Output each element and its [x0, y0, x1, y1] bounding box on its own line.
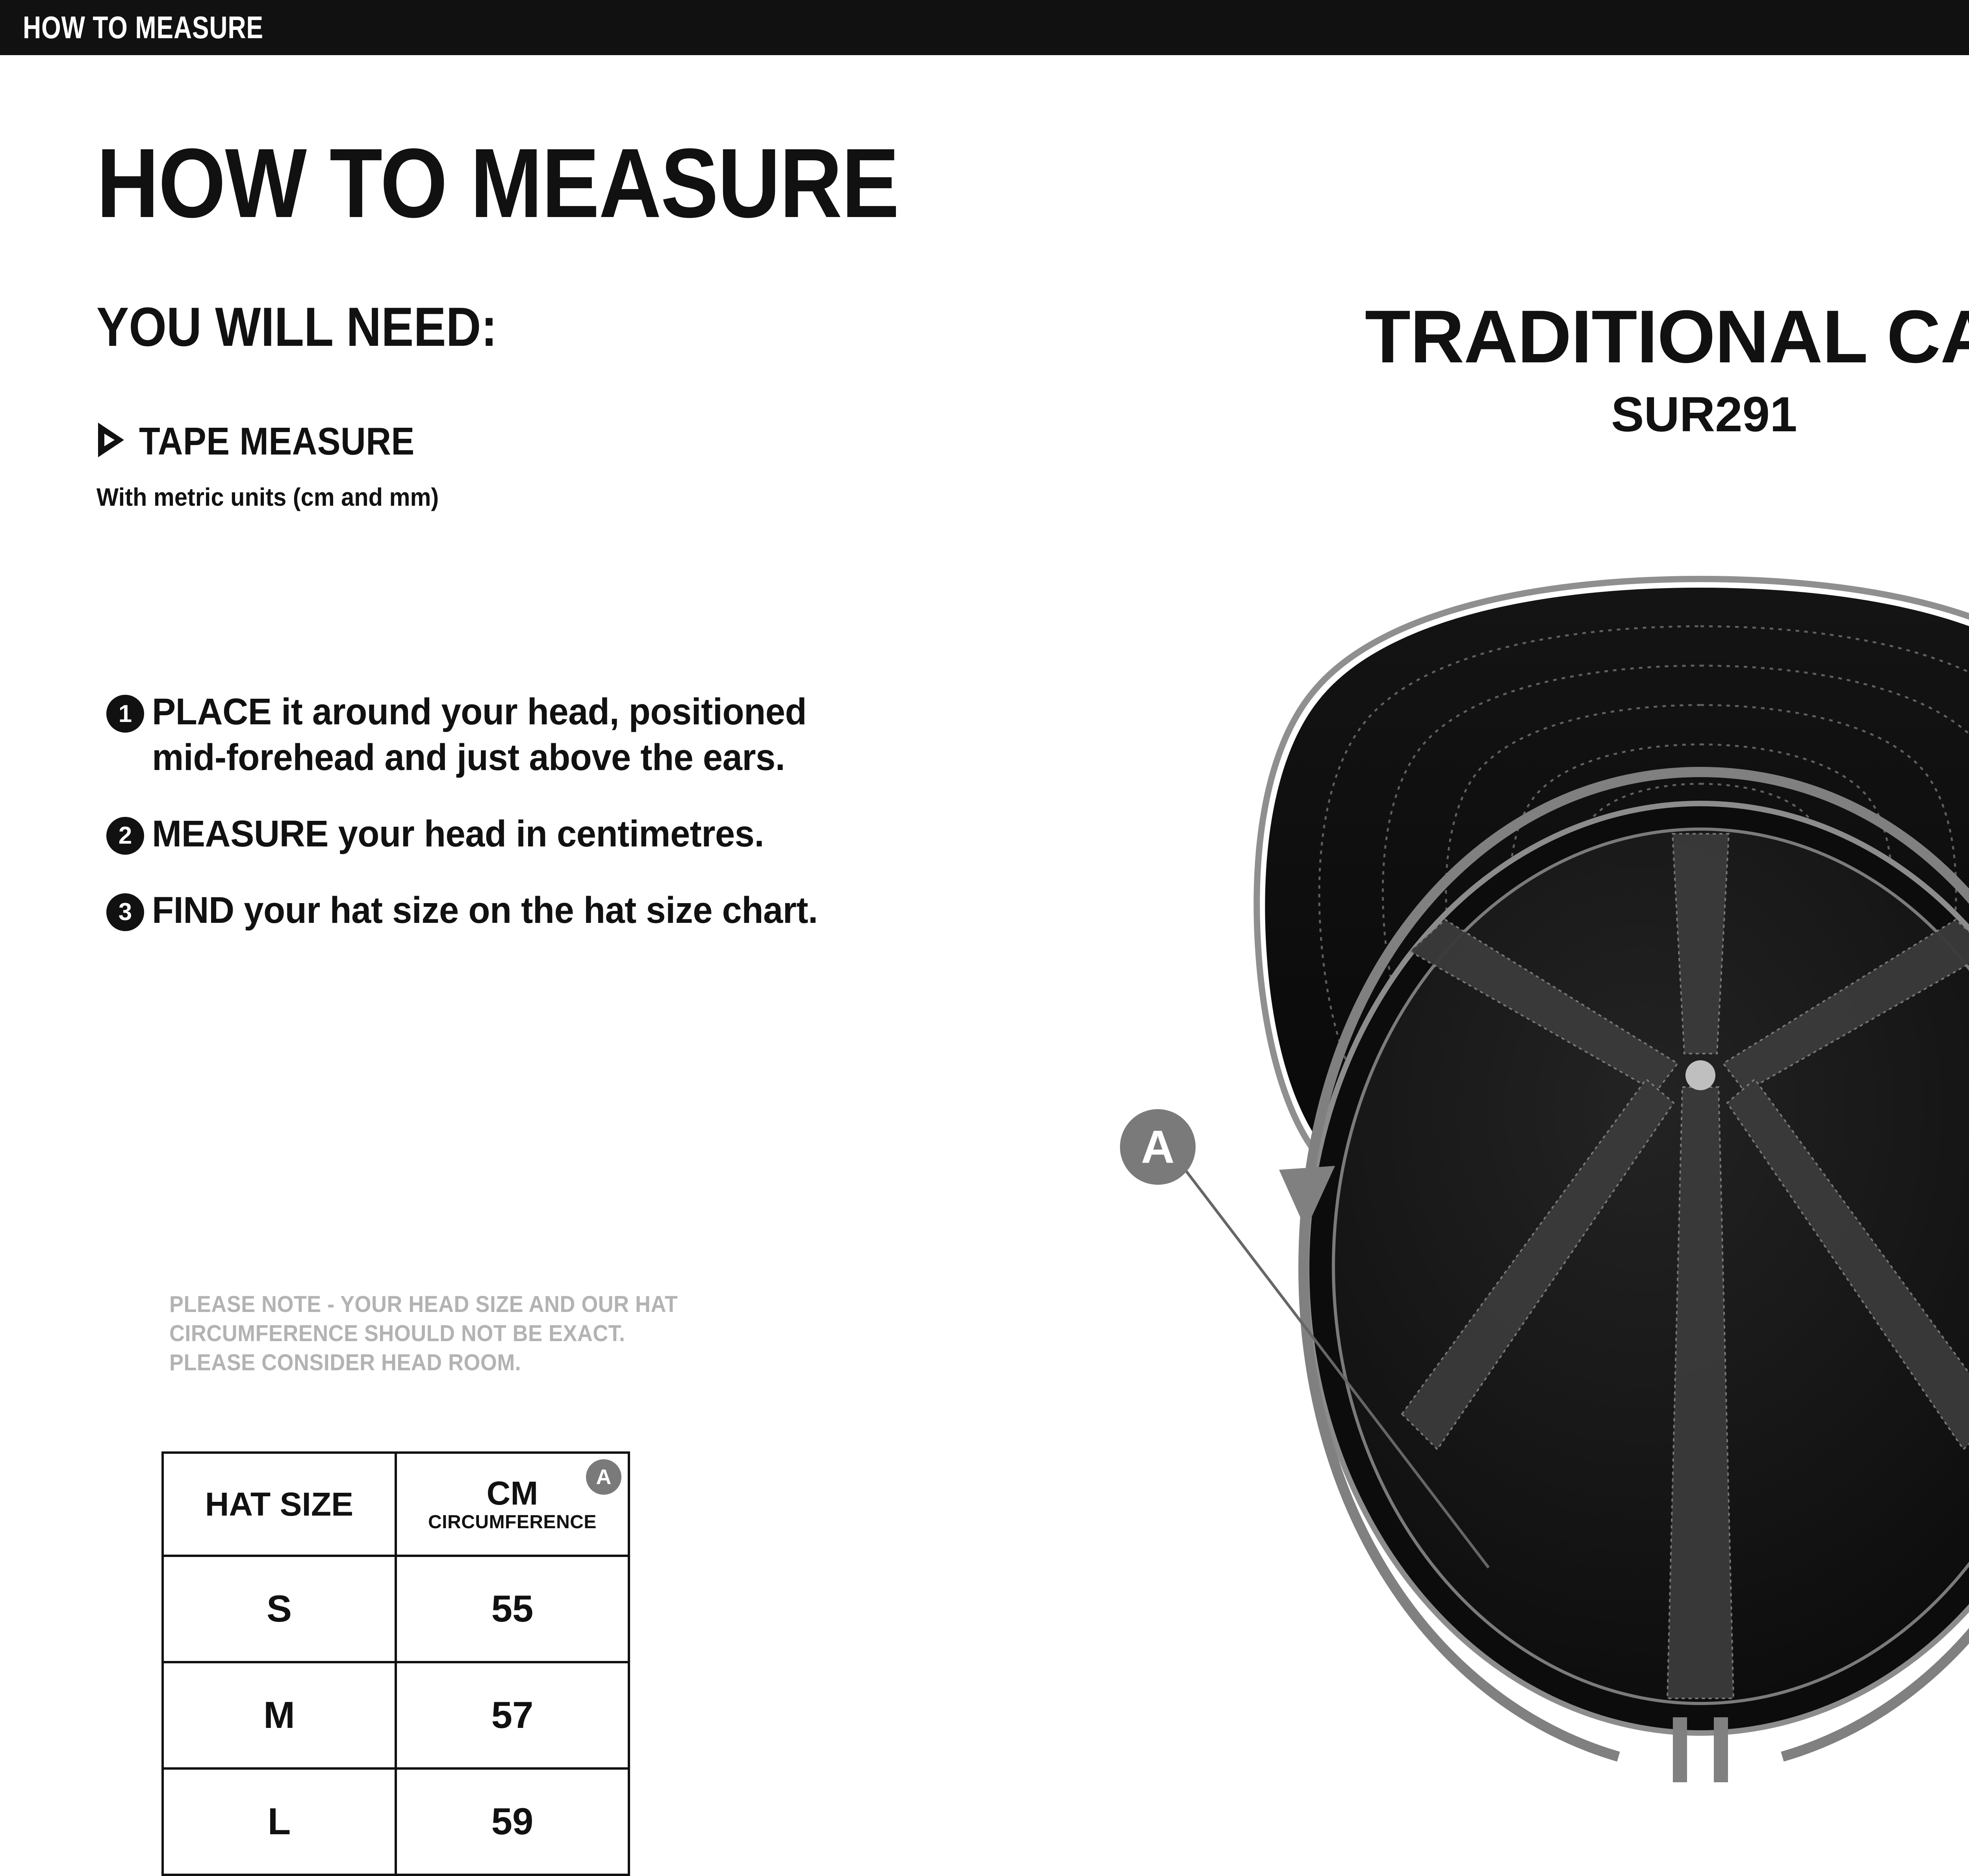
traditional-cap-underside-diagram: A: [1083, 496, 1969, 1835]
step-text: MEASURE your head in centimetres.: [152, 811, 764, 857]
measurement-a-badge: A: [586, 1459, 621, 1495]
table-row: L 59: [163, 1768, 629, 1875]
left-content-column: HOW TO MEASURE YOU WILL NEED: TAPE MEASU…: [0, 55, 1083, 1835]
table-row: S 55: [163, 1556, 629, 1662]
page-title: HOW TO MEASURE: [96, 134, 899, 232]
hat-size-chart-table: HAT SIZE CM CIRCUMFERENCE A S 55 M 57 L …: [161, 1451, 630, 1876]
list-item: 2 MEASURE your head in centimetres.: [106, 811, 933, 857]
step-number-badge: 2: [106, 817, 144, 855]
cell-hat-size: L: [164, 1803, 395, 1841]
list-item: 3 FIND your hat size on the hat size cha…: [106, 888, 933, 933]
step-number-badge: 1: [106, 695, 144, 733]
table-header-row: HAT SIZE CM CIRCUMFERENCE A: [163, 1453, 629, 1556]
cell-hat-size: M: [164, 1696, 395, 1734]
cell-cm-circumference: 59: [397, 1803, 628, 1841]
column-header-cm-circumference: CM CIRCUMFERENCE A: [396, 1453, 629, 1556]
column-header-hat-size: HAT SIZE: [163, 1453, 396, 1556]
cell-hat-size: S: [164, 1590, 395, 1628]
column-header-hat-size-label: HAT SIZE: [164, 1488, 395, 1521]
cell-cm-circumference: 55: [397, 1590, 628, 1628]
tape-measure-sublabel: With metric units (cm and mm): [96, 484, 439, 510]
tool-requirement-row: TAPE MEASURE: [96, 421, 445, 460]
tape-measure-label: TAPE MEASURE: [139, 422, 415, 460]
header-title: HOW TO MEASURE: [23, 12, 263, 43]
step-text: FIND your hat size on the hat size chart…: [152, 888, 818, 933]
cap-centre-button: [1685, 1060, 1715, 1090]
step-text: PLACE it around your head, positioned mi…: [152, 689, 818, 781]
product-title: TRADITIONAL CAP: [1083, 299, 1969, 374]
right-content-column: TRADITIONAL CAP SUR291: [1083, 55, 1969, 1835]
table-row: M 57: [163, 1662, 629, 1768]
step-number-badge: 3: [106, 893, 144, 931]
please-note-text: PLEASE NOTE - YOUR HEAD SIZE AND OUR HAT…: [169, 1290, 678, 1378]
product-code: SUR291: [1083, 390, 1969, 439]
column-header-circumference-label: CIRCUMFERENCE: [397, 1513, 628, 1532]
play-triangle-outline-icon: [96, 421, 126, 460]
you-will-need-heading: YOU WILL NEED:: [96, 299, 497, 354]
top-header-bar: HOW TO MEASURE SURRIDGE: [0, 0, 1969, 55]
callout-a-label: A: [1141, 1121, 1174, 1173]
cell-cm-circumference: 57: [397, 1696, 628, 1734]
measure-steps-list: 1 PLACE it around your head, positioned …: [106, 689, 933, 964]
list-item: 1 PLACE it around your head, positioned …: [106, 689, 933, 781]
